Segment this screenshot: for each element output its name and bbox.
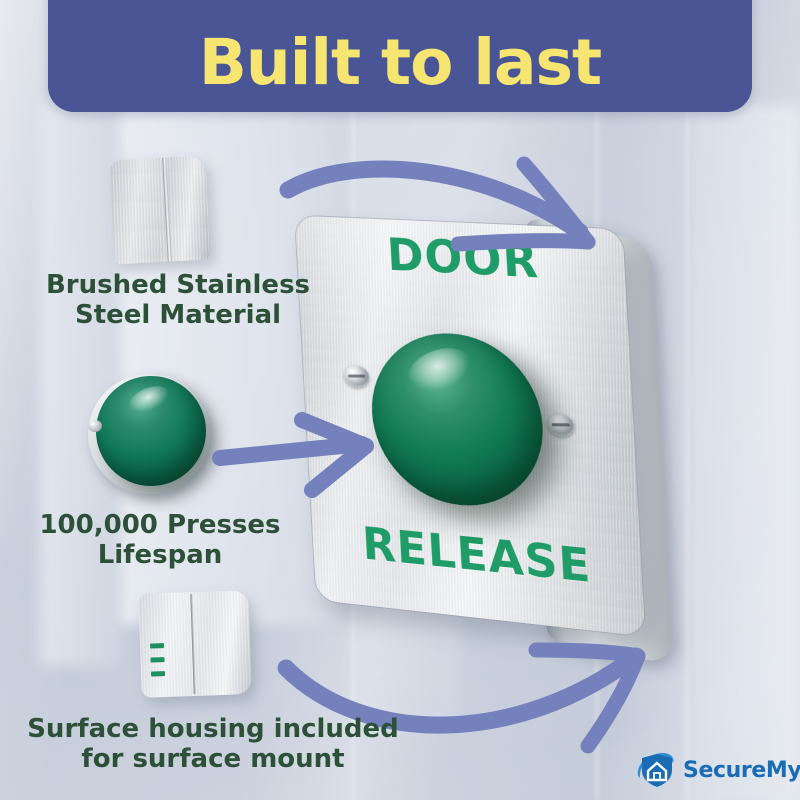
dome-highlight (401, 340, 478, 399)
dome-screw (88, 420, 102, 432)
shield-house-icon (634, 750, 676, 790)
arrow-middle-to-button (214, 398, 404, 503)
housing-text-dash (150, 657, 164, 662)
header-banner: Built to last (48, 0, 752, 112)
steel-edge-highlight (162, 158, 171, 262)
feature-caption-lifespan: 100,000 Presses Lifespan (10, 510, 310, 570)
feature-caption-housing: Surface housing included for surface mou… (18, 714, 408, 774)
brand-logo-text: SecureMyDoor (683, 758, 800, 783)
thumbnail-surface-housing (138, 590, 252, 698)
arrow-top-to-plate (280, 150, 680, 300)
brand-logo[interactable]: SecureMyDoor (634, 750, 800, 790)
housing-edge-highlight (190, 594, 196, 694)
thumbnail-brushed-steel-corner (109, 156, 210, 265)
feature-caption-steel: Brushed Stainless Steel Material (18, 270, 338, 330)
housing-text-dash (150, 643, 164, 648)
page-title: Built to last (199, 31, 601, 94)
marketing-graphic-canvas: Built to last DOOR RELEASE (0, 0, 800, 800)
thumbnail-green-dome-button (88, 372, 218, 496)
housing-text-dash (151, 671, 165, 676)
